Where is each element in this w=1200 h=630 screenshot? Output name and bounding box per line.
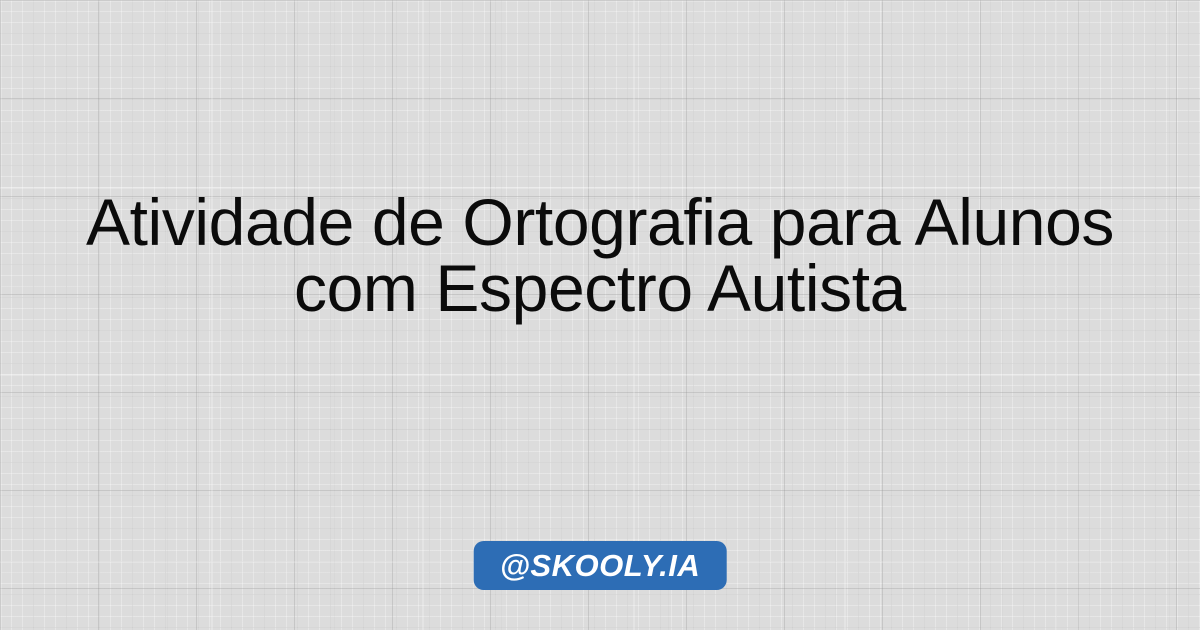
title-block: Atividade de Ortografia para Alunos com … bbox=[0, 0, 1200, 510]
og-card: Atividade de Ortografia para Alunos com … bbox=[0, 0, 1200, 630]
page-title: Atividade de Ortografia para Alunos com … bbox=[56, 189, 1144, 321]
watermark-handle-label: @SKOOLY.IA bbox=[500, 550, 701, 581]
watermark-badge[interactable]: @SKOOLY.IA bbox=[474, 541, 727, 590]
